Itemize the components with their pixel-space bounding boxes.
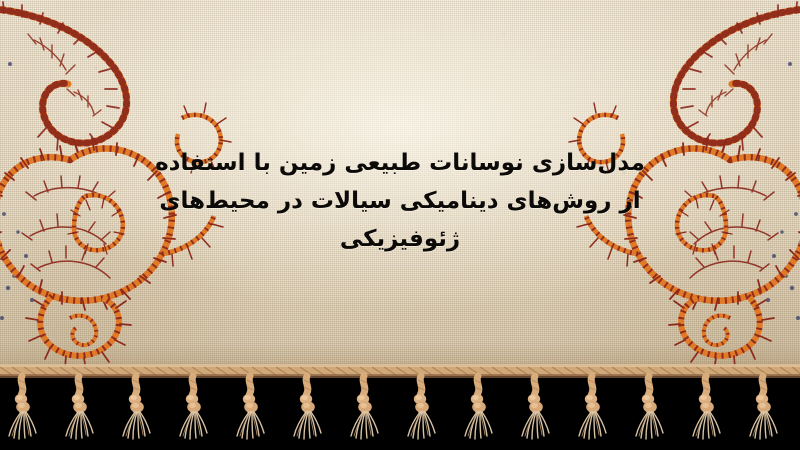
title-slide: مدل‌سازی نوسانات طبیعی زمین با استفاده ا… — [0, 0, 800, 450]
slide-title: مدل‌سازی نوسانات طبیعی زمین با استفاده ا… — [0, 144, 800, 258]
title-line-2: از روش‌های دینامیکی سیالات در محیط‌های — [0, 182, 800, 220]
fabric-hem-shadow — [0, 342, 800, 376]
black-background-band — [0, 376, 800, 450]
title-line-1: مدل‌سازی نوسانات طبیعی زمین با استفاده — [0, 144, 800, 182]
title-line-3: ژئوفیزیکی — [0, 220, 800, 258]
